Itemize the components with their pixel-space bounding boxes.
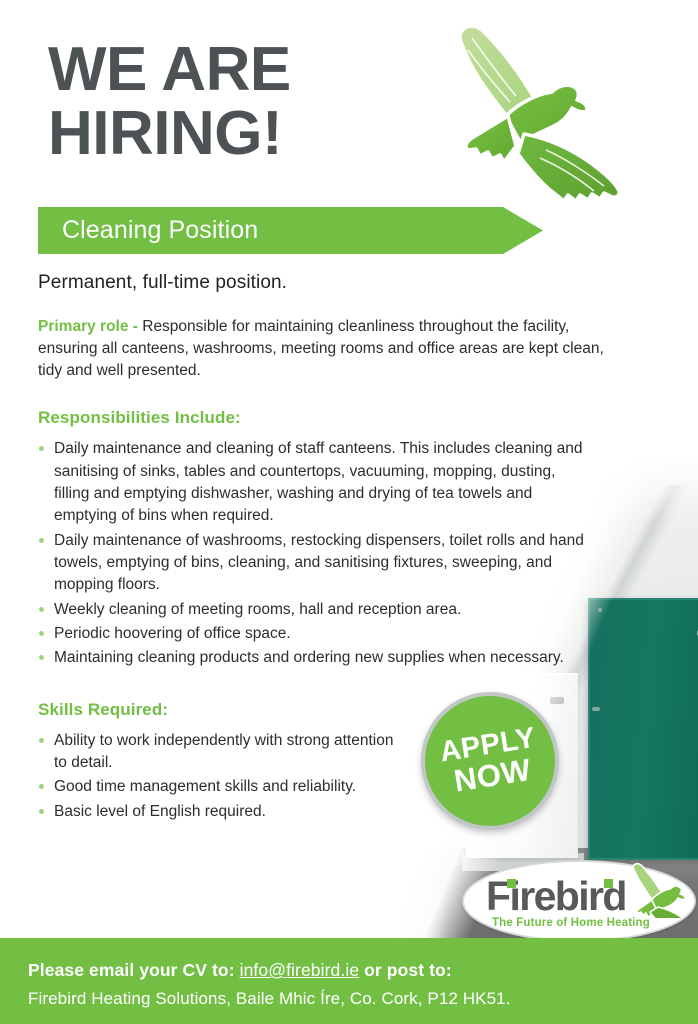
page-title: WE ARE HIRING! [48, 38, 468, 166]
footer-cv-line: Please email your CV to: info@firebird.i… [28, 960, 698, 981]
apply-now-badge[interactable]: APPLY NOW [421, 692, 559, 830]
list-item: Weekly cleaning of meeting rooms, hall a… [38, 599, 586, 621]
list-item: Daily maintenance and cleaning of staff … [38, 438, 586, 527]
list-item: Maintaining cleaning products and orderi… [38, 647, 586, 669]
headline-line-1: WE ARE [48, 35, 291, 104]
firebird-bird-icon [446, 16, 646, 216]
firebird-logo-bird-icon [628, 862, 694, 918]
footer-post-label: or post to: [364, 960, 452, 980]
list-item: Periodic hoovering of office space. [38, 623, 586, 645]
primary-role-label: Primary role - [38, 318, 138, 335]
footer-cv-label: Please email your CV to: [28, 960, 235, 980]
responsibilities-list: Daily maintenance and cleaning of staff … [38, 438, 618, 669]
list-item: Good time management skills and reliabil… [38, 776, 438, 798]
footer-email-link[interactable]: info@firebird.ie [240, 960, 360, 980]
apply-now-text: APPLY NOW [438, 724, 543, 798]
footer-address: Firebird Heating Solutions, Baile Mhic Í… [28, 989, 698, 1009]
logo-i-dot-first [507, 879, 516, 888]
footer-contact-bar: Please email your CV to: info@firebird.i… [0, 938, 698, 1024]
position-subtitle: Permanent, full-time position. [38, 272, 618, 294]
list-item: Daily maintenance of washrooms, restocki… [38, 530, 586, 597]
primary-role-paragraph: Primary role - Responsible for maintaini… [38, 316, 613, 382]
responsibilities-heading: Responsibilities Include: [38, 408, 618, 428]
hiring-poster: WE ARE HIRING! Cleaning Position Permane… [0, 0, 698, 1024]
list-item: Ability to work independently with stron… [38, 730, 410, 775]
logo-i-dot-second [604, 879, 613, 888]
headline-line-2: HIRING! [48, 102, 468, 166]
list-item: Basic level of English required. [38, 801, 438, 823]
position-banner-label: Cleaning Position [62, 207, 258, 254]
firebird-logo: Firebird The Future of Home Heating [462, 860, 696, 942]
logo-tagline: The Future of Home Heating [492, 917, 650, 929]
